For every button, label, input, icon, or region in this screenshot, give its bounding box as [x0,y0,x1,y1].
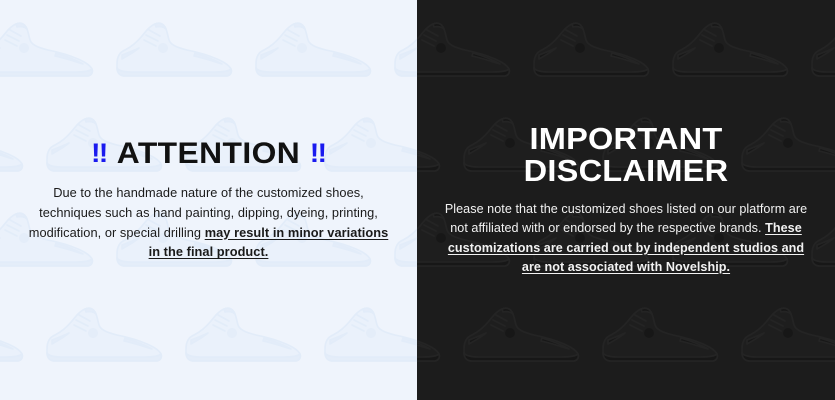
attention-headline: ‼ATTENTION‼ [15,138,402,169]
attention-headline-text: ATTENTION [117,137,300,170]
attention-content: ‼ATTENTION‼ Due to the handmade nature o… [0,138,417,262]
disclaimer-headline-line-1: IMPORTANT [434,123,818,155]
attention-body: Due to the handmade nature of the custom… [26,183,391,261]
disclaimer-body: Please note that the customized shoes li… [443,200,809,277]
disclaimer-content: IMPORTANT DISCLAIMER Please note that th… [417,123,835,278]
double-exclamation-icon-right: ‼ [310,138,326,168]
attention-panel: ‼ATTENTION‼ Due to the handmade nature o… [0,0,417,400]
disclaimer-body-plain: Please note that the customized shoes li… [445,202,807,235]
double-exclamation-icon-left: ‼ [91,138,107,168]
disclaimer-banner: ‼ATTENTION‼ Due to the handmade nature o… [0,0,835,400]
disclaimer-headline-line-2: DISCLAIMER [434,155,818,187]
disclaimer-headline: IMPORTANT DISCLAIMER [434,123,818,187]
disclaimer-panel: IMPORTANT DISCLAIMER Please note that th… [417,0,835,400]
